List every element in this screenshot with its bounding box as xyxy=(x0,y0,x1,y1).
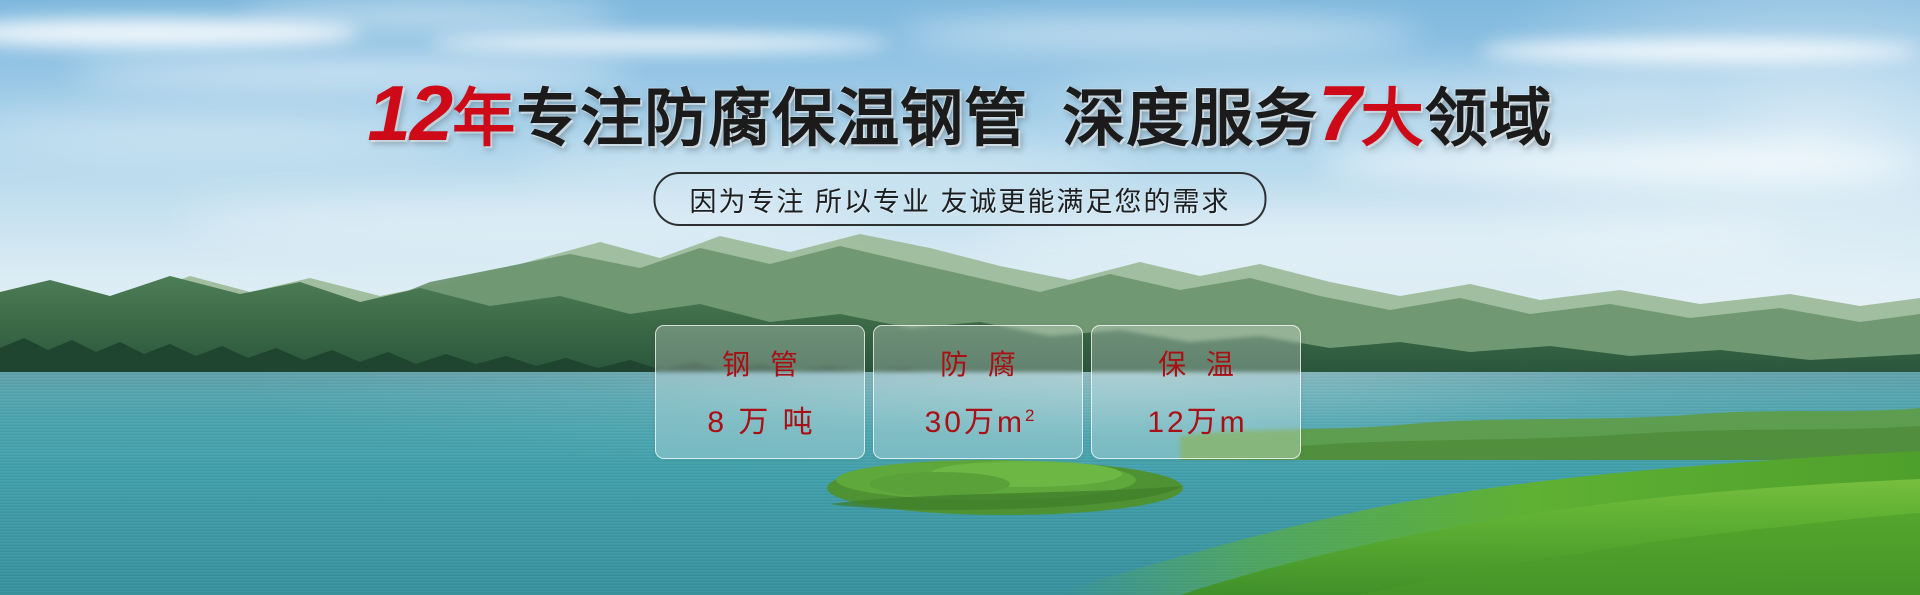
page-title: 12年专注防腐保温钢管深度服务7大领域 xyxy=(0,78,1920,154)
stat-card-title: 钢 管 xyxy=(716,343,804,383)
headline-highlight-number: 7 xyxy=(1318,69,1360,157)
stat-card-value-text: 30万m xyxy=(925,406,1025,439)
stat-card-group: 钢 管 8 万 吨 防 腐 30万m2 保 温 12万m xyxy=(655,325,1301,459)
stat-card-value: 8 万 吨 xyxy=(704,397,815,441)
headline-highlight-suffix: 大 xyxy=(1361,84,1425,154)
stat-card-value-superscript: 2 xyxy=(1025,406,1034,425)
stat-card-steel-pipe[interactable]: 钢 管 8 万 吨 xyxy=(655,325,865,459)
stat-card-insulation[interactable]: 保 温 12万m xyxy=(1091,325,1301,459)
stat-card-value-text: 8 万 吨 xyxy=(707,406,815,439)
stat-card-value: 30万m2 xyxy=(922,397,1035,441)
stat-card-title: 保 温 xyxy=(1152,343,1240,383)
headline-number-suffix: 年 xyxy=(452,84,516,154)
headline-part-1: 专注防腐保温钢管 xyxy=(516,84,1028,154)
hero-banner: 12年专注防腐保温钢管深度服务7大领域 因为专注 所以专业 友诚更能满足您的需求… xyxy=(0,0,1920,595)
stat-card-value: 12万m xyxy=(1144,397,1247,441)
cloud-wisp xyxy=(1480,40,1920,62)
headline-part-2: 深度服务 xyxy=(1062,84,1318,154)
subtitle-text: 因为专注 所以专业 友诚更能满足您的需求 xyxy=(689,180,1230,219)
stat-card-title: 防 腐 xyxy=(934,343,1022,383)
cloud-wisp xyxy=(900,22,1420,46)
headline-part-3: 领域 xyxy=(1425,84,1553,154)
cloud-wisp xyxy=(240,5,620,27)
subtitle-pill: 因为专注 所以专业 友诚更能满足您的需求 xyxy=(653,172,1266,226)
headline-number: 12 xyxy=(367,69,452,157)
stat-card-value-text: 12万m xyxy=(1147,406,1247,439)
stat-card-anticorrosion[interactable]: 防 腐 30万m2 xyxy=(873,325,1083,459)
cloud-wisp xyxy=(430,34,890,52)
